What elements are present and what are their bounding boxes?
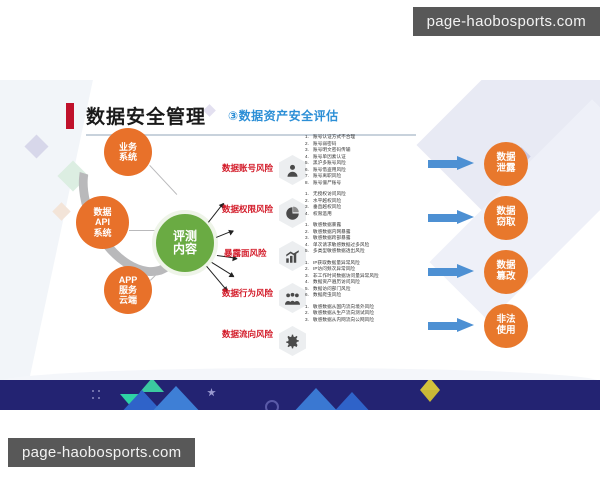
decorative-triangle xyxy=(420,380,440,390)
detail-group-account: 1.账号认证方式不合理 2.账号弱密码 3.账号明文密码传输 4.账号单因素认证… xyxy=(305,134,430,186)
risk-label-dataflow: 数据流向风险 xyxy=(222,329,282,340)
detail-group-permission: 1.无授权访问风险 2.水平越权风险 3.垂直越权风险 4.权限滥用 xyxy=(305,191,430,217)
decorative-dot xyxy=(92,390,94,392)
outcome-label: 非法 使用 xyxy=(496,315,515,336)
decorative-triangle xyxy=(330,392,374,410)
decorative-dot xyxy=(98,390,100,392)
list-item: 6.数据爬虫风险 xyxy=(305,292,430,299)
source-label: 业务 系统 xyxy=(119,142,137,162)
list-item: 5.多类型敏感数据透出风险 xyxy=(305,248,430,255)
risk-arrow xyxy=(216,230,233,238)
decorative-dot xyxy=(98,397,100,399)
source-circle-data-api-system: 数据 API 系统 xyxy=(76,196,129,249)
pie-chart-icon xyxy=(279,198,306,228)
detail-group-dataflow: 1.敏感数据从国内流向境外风险 2.敏感数据从生产流向测试风险 3.敏感数据从内… xyxy=(305,304,430,324)
decorative-triangle xyxy=(148,386,204,410)
watermark-top: page-haobosports.com xyxy=(413,7,600,36)
list-item: 4.权限滥用 xyxy=(305,211,430,218)
list-item: 8.账号僵尸账号 xyxy=(305,180,430,187)
flow-arrow xyxy=(428,210,475,225)
page-subtitle: ③数据资产安全评估 xyxy=(228,107,339,124)
source-label: 数据 API 系统 xyxy=(93,207,111,237)
risk-label-account: 数据账号风险 xyxy=(222,163,282,174)
decorative-triangle xyxy=(420,390,440,402)
people-group-icon xyxy=(279,283,306,313)
outcome-label: 数据 篡改 xyxy=(496,261,515,282)
outcome-label: 数据 泄露 xyxy=(496,153,515,174)
decorative-ring xyxy=(265,400,279,410)
header-accent-bar xyxy=(66,103,74,129)
outcome-circle-illegal-use: 非法 使用 xyxy=(484,304,528,348)
connector-line xyxy=(129,230,155,231)
risk-label-behavior: 数据行为风险 xyxy=(222,288,282,299)
bar-chart-icon xyxy=(279,241,306,271)
risk-label-permission: 数据权限风险 xyxy=(222,204,282,215)
footer-band xyxy=(0,380,600,410)
detail-group-exposure: 1.敏感数据暴露 2.敏感数据内网暴露 3.敏感数据跨部暴露 4.单次请求敏感数… xyxy=(305,222,430,255)
watermark-bottom: page-haobosports.com xyxy=(8,438,195,467)
outcome-circle-data-theft: 数据 窃取 xyxy=(484,196,528,240)
flow-arrow xyxy=(428,318,475,333)
source-circle-business-system: 业务 系统 xyxy=(104,128,152,176)
person-icon xyxy=(279,155,306,185)
risk-label-exposure: 暴露面风险 xyxy=(224,248,284,259)
source-circle-app-service-cloud: APP 服务 云端 xyxy=(104,266,152,314)
page-title: 数据安全管理 xyxy=(86,102,206,129)
outcome-label: 数据 窃取 xyxy=(496,207,515,228)
center-label: 评测 内容 xyxy=(173,230,197,257)
source-label: APP 服务 云端 xyxy=(119,275,138,305)
outcome-circle-data-leak: 数据 泄露 xyxy=(484,142,528,186)
decorative-dot xyxy=(92,397,94,399)
outcome-circle-data-tamper: 数据 篡改 xyxy=(484,250,528,294)
flow-arrow xyxy=(428,264,475,279)
decorative-star xyxy=(207,388,216,397)
list-item: 3.敏感数据从内网流向公网风险 xyxy=(305,317,430,324)
risk-detail-lists: 1.账号认证方式不合理 2.账号弱密码 3.账号明文密码传输 4.账号单因素认证… xyxy=(305,134,430,328)
detail-group-behavior: 1.IP获取数据量异常风险 2.IP访问频次异常风险 3.非工作时间数据访问量异… xyxy=(305,260,430,299)
gear-icon xyxy=(279,326,306,356)
flow-arrow xyxy=(428,156,475,171)
slide-canvas: 数据安全管理 ③数据资产安全评估 业务 系统 数据 API 系统 APP 服务 … xyxy=(0,80,600,380)
